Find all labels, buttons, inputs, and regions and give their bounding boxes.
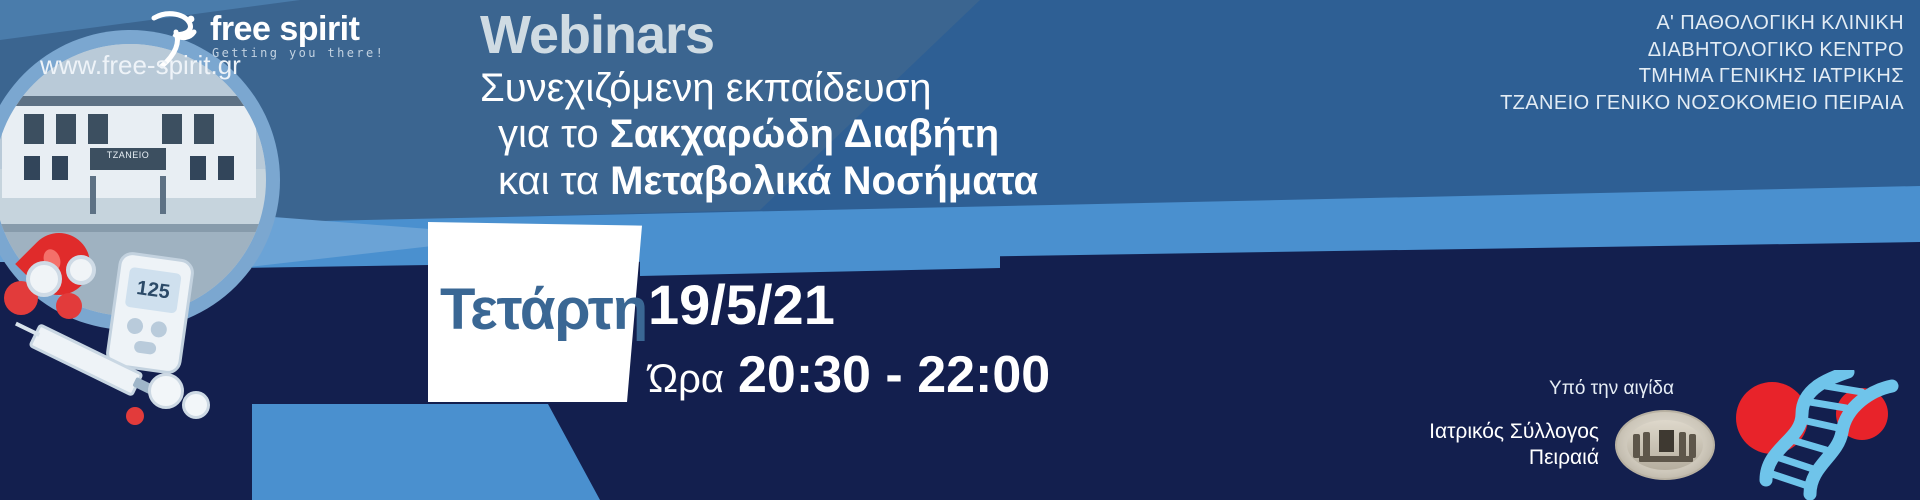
event-date: 19/5/21 [648,272,835,337]
red-blood-cell-icon [56,293,82,319]
institution-line-1: Α' ΠΑΘΟΛΟΓΙΚΗ ΚΛΙΝΙΚΗ [1500,10,1904,37]
institution-line-2: ΔΙΑΒΗΤΟΛΟΓΙΚΟ ΚΕΝΤΡΟ [1500,37,1904,64]
pill-icon [182,391,210,419]
event-time-value: 20:30 - 22:00 [738,345,1050,405]
pill-icon [148,373,184,409]
aegis-label: Υπό την αιγίδα [1549,378,1674,400]
sponsor-name-line-2: Πειραιά [1429,445,1599,471]
white-blood-cell-icon [66,255,96,285]
sponsor-row: Ιατρικός Σύλλογος Πειραιά [1429,410,1715,480]
headline-block: Webinars Συνεχιζόμενη εκπαίδευση για το … [480,8,1180,204]
red-blood-cell-icon [126,407,144,425]
page-title: Webinars [480,8,1180,63]
white-blood-cell-icon [26,261,62,297]
free-spirit-wordmark: free spirit [210,10,359,49]
webinar-banner: ΤΖΑΝΕΙΟ 125 [0,0,1920,500]
institution-line-3: ΤΜΗΜΑ ΓΕΝΙΚΗΣ ΙΑΤΡΙΚΗΣ [1500,63,1904,90]
institution-block: Α' ΠΑΘΟΛΟΓΙΚΗ ΚΛΙΝΙΚΗ ΔΙΑΒΗΤΟΛΟΓΙΚΟ ΚΕΝΤ… [1500,10,1904,116]
glucose-reading: 125 [135,277,171,304]
event-day: Τετάρτη [440,276,647,343]
sponsor-name-line-1: Ιατρικός Σύλλογος [1429,419,1599,445]
event-time-label: Ώρα [648,357,724,402]
headline-line-3-prefix: και τα [498,159,610,203]
hospital-sign-label: ΤΖΑΝΕΙΟ [90,150,166,160]
medical-association-seal-icon [1615,410,1715,480]
headline-line-3-emphasis: Μεταβολικά Νοσήματα [610,159,1038,203]
institution-line-4: ΤΖΑΝΕΙΟ ΓΕΝΙΚΟ ΝΟΣΟΚΟΜΕΙΟ ΠΕΙΡΑΙΑ [1500,90,1904,117]
sponsor-name: Ιατρικός Σύλλογος Πειραιά [1429,419,1599,472]
headline-line-2: για το Σακχαρώδη Διαβήτη [480,111,1180,157]
medical-icons-cluster: 125 [0,215,330,500]
headline-line-2-emphasis: Σακχαρώδη Διαβήτη [610,112,1000,156]
dna-helix-blood-cells-icon [1722,370,1902,500]
headline-line-1: Συνεχιζόμενη εκπαίδευση [480,65,1180,111]
free-spirit-url[interactable]: www.free-spirit.gr [40,50,241,81]
headline-line-3: και τα Μεταβολικά Νοσήματα [480,158,1180,204]
headline-line-2-prefix: για το [498,112,610,156]
event-time-row: Ώρα 20:30 - 22:00 [648,345,1050,405]
glucose-meter-icon: 125 [104,250,195,375]
